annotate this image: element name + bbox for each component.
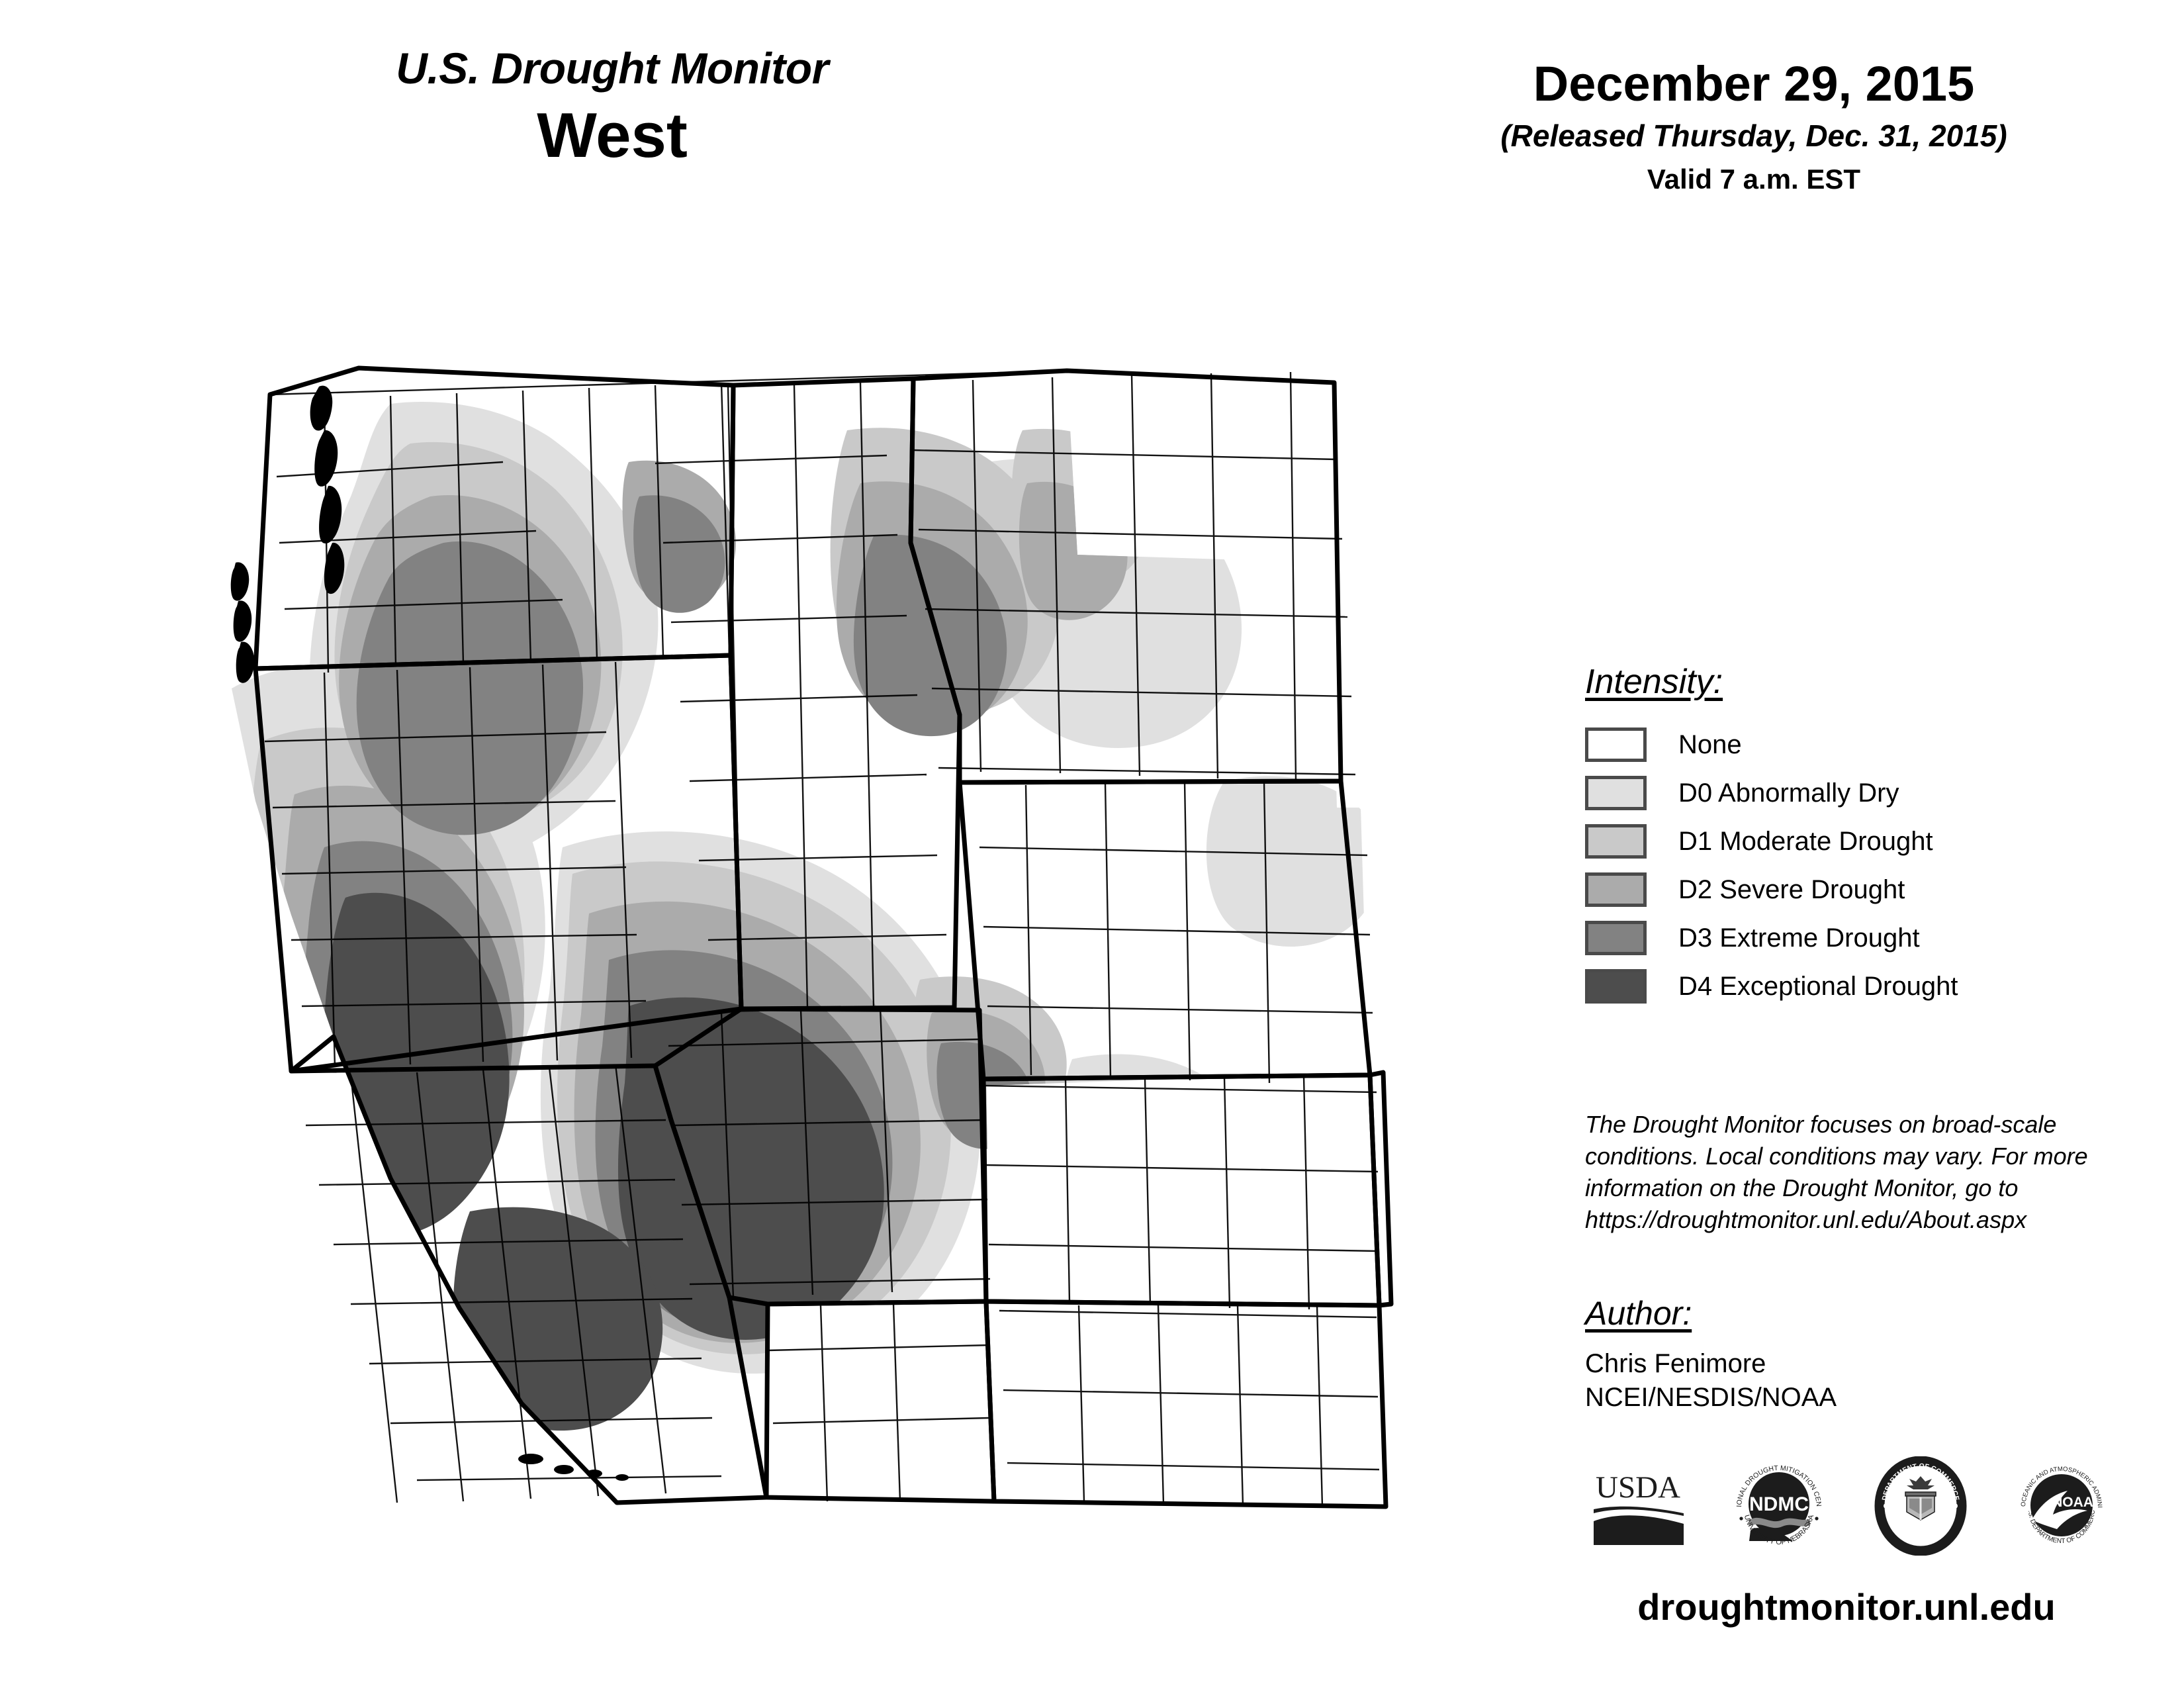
logo-row: USDA NDMC NATIONAL DROUGHT MITIGATION CE… [1588, 1446, 2111, 1569]
legend-swatch-d2 [1585, 872, 1647, 907]
usda-logo: USDA [1588, 1463, 1688, 1552]
legend-swatch-d3 [1585, 921, 1647, 955]
legend-label-d4: D4 Exceptional Drought [1678, 973, 1958, 1000]
author-heading: Author: [1585, 1294, 1692, 1333]
author-block: Author: Chris Fenimore NCEI/NESDIS/NOAA [1585, 1294, 2101, 1415]
footer-url[interactable]: droughtmonitor.unl.edu [1562, 1585, 2131, 1628]
release-date: (Released Thursday, Dec. 31, 2015) [1377, 120, 2131, 151]
drought-map [192, 344, 1403, 1529]
legend: Intensity: None D0 Abnormally Dry D1 Mod… [1585, 662, 2088, 1010]
legend-item-d1: D1 Moderate Drought [1585, 817, 2088, 865]
valid-date: December 29, 2015 [1377, 60, 2131, 109]
legend-swatch-d0 [1585, 776, 1647, 810]
valid-time: Valid 7 a.m. EST [1377, 165, 2131, 193]
page-title: U.S. Drought Monitor [199, 46, 1026, 90]
noaa-logo: NOAA NATIONAL OCEANIC AND ATMOSPHERIC AD… [2012, 1456, 2111, 1559]
legend-label-d1: D1 Moderate Drought [1678, 828, 1933, 855]
doc-eagle [1907, 1476, 1934, 1489]
legend-label-d0: D0 Abnormally Dry [1678, 780, 1899, 806]
legend-label-d3: D3 Extreme Drought [1678, 925, 1920, 951]
header-right: December 29, 2015 (Released Thursday, De… [1377, 60, 2131, 193]
legend-heading: Intensity: [1585, 662, 1723, 702]
legend-item-none: None [1585, 720, 2088, 769]
legend-swatch-none [1585, 727, 1647, 762]
author-name: Chris Fenimore [1585, 1347, 2101, 1381]
legend-item-d2: D2 Severe Drought [1585, 865, 2088, 914]
noaa-logo-text: NOAA [2052, 1495, 2093, 1510]
region-title: West [199, 99, 1026, 172]
author-affiliation: NCEI/NESDIS/NOAA [1585, 1381, 2101, 1415]
legend-swatch-d4 [1585, 969, 1647, 1004]
legend-item-d4: D4 Exceptional Drought [1585, 962, 2088, 1010]
usda-logo-text: USDA [1596, 1470, 1680, 1505]
legend-swatch-d1 [1585, 824, 1647, 859]
map-svg [192, 344, 1403, 1529]
legend-item-d3: D3 Extreme Drought [1585, 914, 2088, 962]
doc-seal-logo: DEPARTMENT OF COMMERCE UNITED STATES OF … [1871, 1456, 1970, 1559]
legend-label-none: None [1678, 731, 1742, 758]
ndmc-logo: NDMC NATIONAL DROUGHT MITIGATION CENTER … [1729, 1456, 1829, 1559]
ndmc-logo-text: NDMC [1749, 1493, 1809, 1515]
header-left: U.S. Drought Monitor West [199, 46, 1026, 172]
disclaimer-text: The Drought Monitor focuses on broad-sca… [1585, 1109, 2121, 1236]
legend-item-d0: D0 Abnormally Dry [1585, 769, 2088, 817]
legend-label-d2: D2 Severe Drought [1678, 876, 1905, 903]
